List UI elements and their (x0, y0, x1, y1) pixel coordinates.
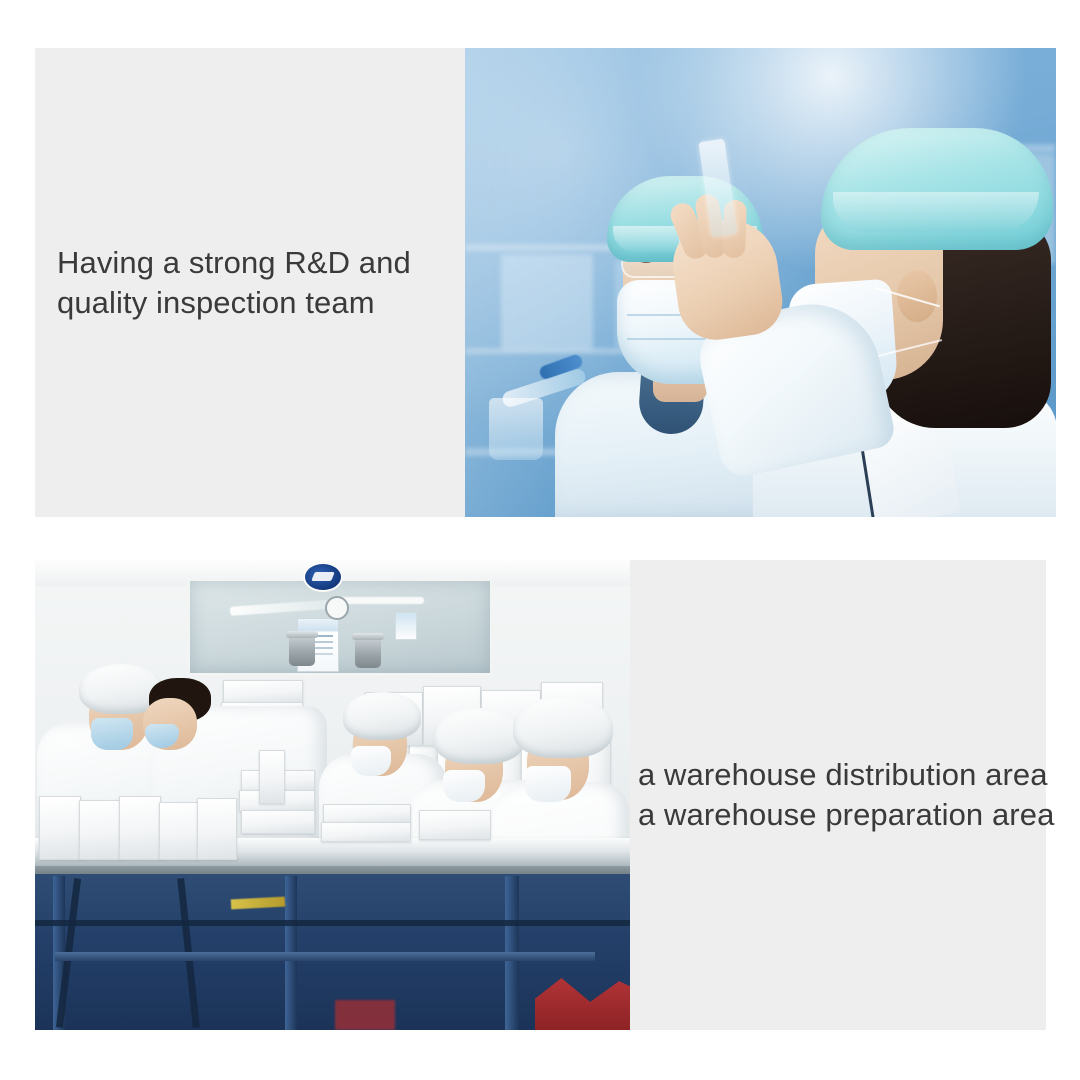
ceiling-light-reflection (230, 599, 340, 616)
warehouse-packing-photo (35, 560, 630, 1030)
carton-box (119, 796, 161, 860)
carton-box (323, 804, 411, 824)
blue-circular-sign (303, 562, 343, 592)
raised-arm-with-flask (633, 132, 893, 462)
table-frame-bar (35, 920, 630, 926)
wall-clock-icon (325, 596, 349, 620)
top-section: Having a strong R&D and quality inspecti… (35, 48, 1056, 517)
face-mask (91, 718, 133, 750)
bottom-section: a warehouse distribution area a warehous… (35, 560, 1046, 1030)
bottom-caption-line-2: a warehouse preparation area (638, 795, 1046, 835)
table-lower-shelf (55, 952, 595, 961)
ceiling-light-reflection (340, 597, 424, 604)
face-mask (351, 746, 391, 776)
top-caption-panel: Having a strong R&D and quality inspecti… (35, 48, 465, 517)
carton-box (241, 810, 315, 834)
carton-box (159, 802, 199, 860)
lab-inspection-photo (465, 48, 1056, 517)
bottom-caption-panel: a warehouse distribution area a warehous… (630, 560, 1046, 1030)
bottom-caption-line-1: a warehouse distribution area (638, 755, 1046, 795)
red-floor-object (335, 1000, 395, 1030)
stainless-container (355, 638, 381, 668)
face-mask (443, 770, 485, 802)
carton-box (259, 750, 285, 804)
carton-box (79, 800, 121, 860)
carton-box (321, 822, 411, 842)
carton-box (419, 810, 491, 840)
face-mask (525, 766, 571, 802)
top-caption-line-1: Having a strong R&D and (57, 243, 465, 283)
glass-beaker (489, 398, 543, 460)
wall-notice-small (395, 612, 417, 640)
carton-box (39, 796, 81, 860)
top-caption-line-2: quality inspection team (57, 283, 465, 323)
carton-box (197, 798, 237, 860)
hair-net (513, 696, 613, 758)
